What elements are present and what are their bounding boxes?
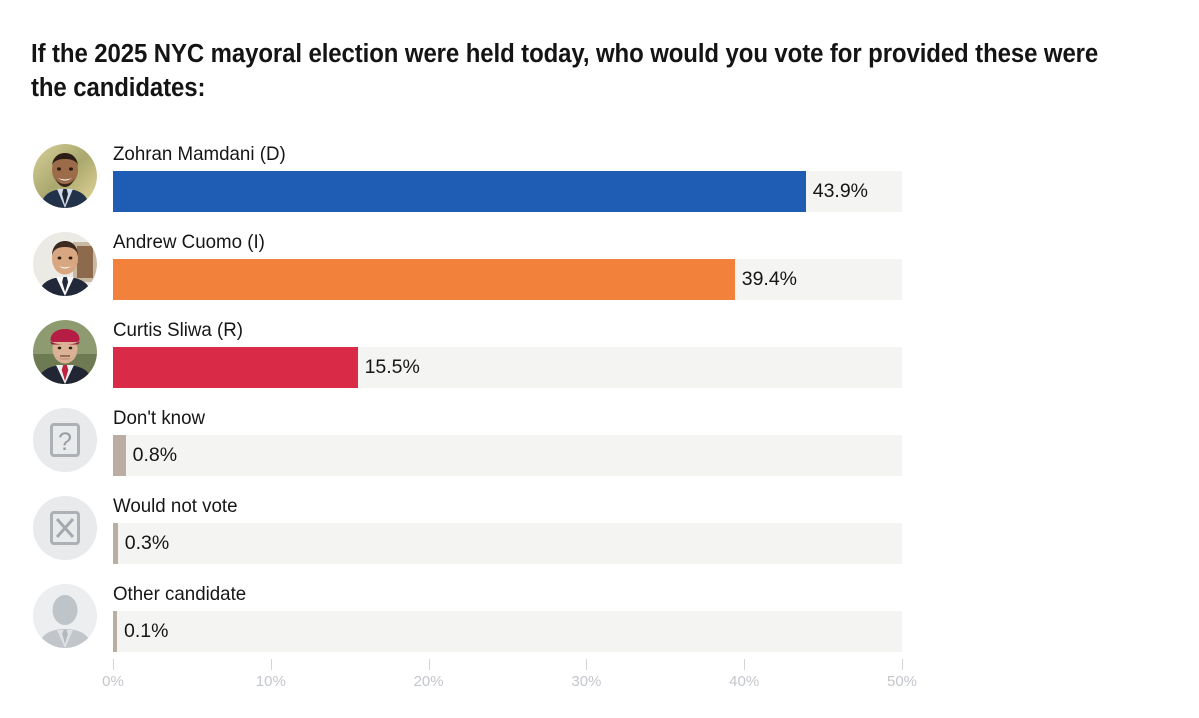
avatar: [33, 232, 97, 296]
axis-tick-label: 20%: [414, 673, 444, 690]
bar-fill: [113, 171, 806, 212]
bar-track: [113, 347, 902, 388]
x-axis: 0%10%20%30%40%50%: [0, 659, 1199, 709]
photo-cuomo-icon: [33, 232, 97, 296]
bar-track: [113, 611, 902, 652]
axis-tick-label: 40%: [729, 673, 759, 690]
bar-value-label: 0.3%: [118, 523, 169, 564]
bar-value-label: 43.9%: [806, 171, 868, 212]
bar-value-label: 15.5%: [358, 347, 420, 388]
photo-mamdani-icon: [33, 144, 97, 208]
axis-tick: [429, 659, 430, 670]
bar-fill: [113, 259, 735, 300]
axis-tick-label: 10%: [256, 673, 286, 690]
candidate-name: Andrew Cuomo (I): [113, 231, 265, 253]
axis-tick: [113, 659, 114, 670]
axis-tick: [902, 659, 903, 670]
candidate-name: Other candidate: [113, 583, 246, 605]
poll-result-chart: If the 2025 NYC mayoral election were he…: [0, 0, 1199, 718]
bar-fill: [113, 347, 358, 388]
table-row: Zohran Mamdani (D) 43.9%: [0, 131, 1199, 219]
question-mark-icon: ?: [33, 408, 97, 472]
table-row: Curtis Sliwa (R) 15.5%: [0, 307, 1199, 395]
bar-value-label: 0.1%: [117, 611, 168, 652]
axis-tick: [744, 659, 745, 670]
bar-fill: [113, 435, 126, 476]
avatar: [33, 144, 97, 208]
avatar: [33, 320, 97, 384]
bar-track: [113, 171, 902, 212]
svg-text:?: ?: [58, 428, 72, 456]
candidate-name: Don't know: [113, 407, 205, 429]
bar-value-label: 39.4%: [735, 259, 797, 300]
bar-track: [113, 435, 902, 476]
bar-value-label: 0.8%: [126, 435, 177, 476]
axis-tick: [271, 659, 272, 670]
bar-track: [113, 523, 902, 564]
table-row: Would not vote 0.3%: [0, 483, 1199, 571]
candidate-name: Zohran Mamdani (D): [113, 143, 286, 165]
axis-tick-label: 50%: [887, 673, 917, 690]
candidate-name: Curtis Sliwa (R): [113, 319, 243, 341]
axis-tick-label: 30%: [571, 673, 601, 690]
person-silhouette-icon: [33, 584, 97, 648]
photo-sliwa-icon: [33, 320, 97, 384]
table-row: ? Don't know 0.8%: [0, 395, 1199, 483]
table-row: Other candidate 0.1%: [0, 571, 1199, 659]
avatar: [33, 584, 97, 648]
candidate-name: Would not vote: [113, 495, 238, 517]
bar-chart: Zohran Mamdani (D) 43.9%: [0, 131, 1199, 659]
page-title: If the 2025 NYC mayoral election were he…: [31, 38, 1107, 106]
avatar: ?: [33, 408, 97, 472]
avatar: [33, 496, 97, 560]
axis-tick-label: 0%: [102, 673, 124, 690]
x-box-icon: [33, 496, 97, 560]
table-row: Andrew Cuomo (I) 39.4%: [0, 219, 1199, 307]
axis-tick: [586, 659, 587, 670]
